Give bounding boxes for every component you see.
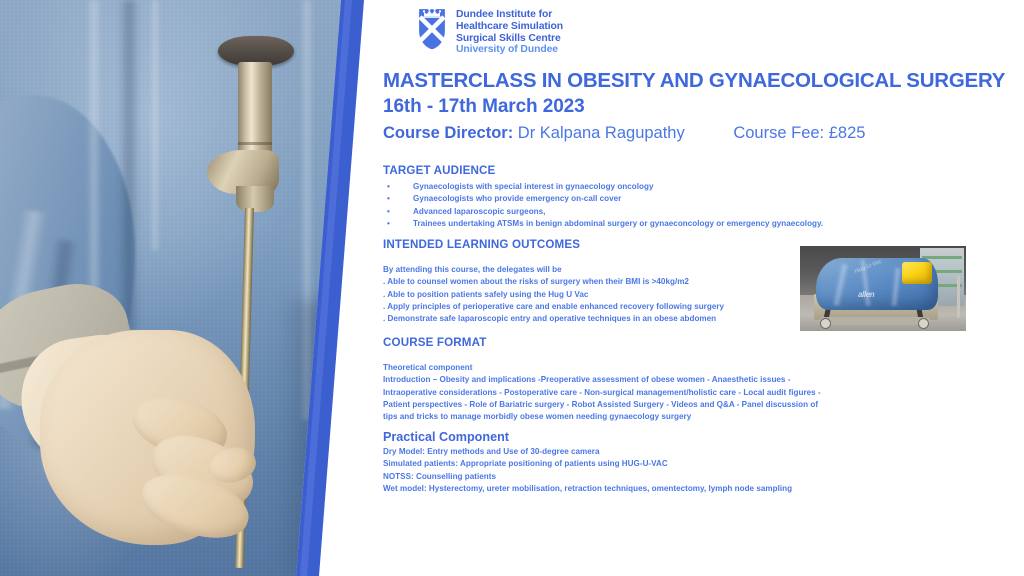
logo-university-line: University of Dundee <box>456 44 563 56</box>
practical-component-heading: Practical Component <box>383 430 883 444</box>
positioner-brand: allen <box>858 290 874 299</box>
target-audience-list: • Gynaecologists with special interest i… <box>383 181 1003 230</box>
headline-block: MASTERCLASS IN OBESITY AND GYNAECOLOGICA… <box>383 68 1023 144</box>
list-item: • Advanced laparoscopic surgeons, <box>383 206 1003 218</box>
equipment-cable <box>957 276 960 318</box>
logo-line-3: Surgical Skills Centre <box>456 33 563 45</box>
course-format-line: Patient perspectives - Role of Bariatric… <box>383 399 883 411</box>
rack-shelf <box>922 256 962 259</box>
bullet-icon: • <box>383 218 413 230</box>
list-item: • Gynaecologists with special interest i… <box>383 181 1003 193</box>
list-item-label: Gynaecologists with special interest in … <box>413 181 653 193</box>
dundee-logo-text: Dundee Institute for Healthcare Simulati… <box>456 7 563 56</box>
course-format-line: Intraoperative considerations - Postoper… <box>383 387 883 399</box>
bullet-icon: • <box>383 193 413 205</box>
trocar-collar <box>236 186 274 212</box>
trocar-barrel <box>238 62 272 162</box>
list-item: • Gynaecologists who provide emergency o… <box>383 193 1003 205</box>
course-fee: Course Fee: £825 <box>733 123 865 144</box>
practical-line: Simulated patients: Appropriate position… <box>383 458 883 470</box>
list-item-label: Gynaecologists who provide emergency on-… <box>413 193 621 205</box>
list-item-label: Trainees undertaking ATSMs in benign abd… <box>413 218 823 230</box>
course-format-body: Theoretical component Introduction – Obe… <box>383 362 883 423</box>
logo-line-1: Dundee Institute for <box>456 9 563 21</box>
table-base <box>820 317 930 325</box>
practical-line: Wet model: Hysterectomy, ureter mobilisa… <box>383 483 883 495</box>
dundee-shield-crown-saltire-icon <box>417 7 447 51</box>
practical-line: NOTSS: Counselling patients <box>383 471 883 483</box>
course-director-label: Course Director: <box>383 124 513 142</box>
course-director-name: Dr Kalpana Ragupathy <box>518 124 685 142</box>
drape-fold <box>150 0 160 250</box>
practical-line: Dry Model: Entry methods and Use of 30-d… <box>383 446 883 458</box>
section-practical-component: Practical Component Dry Model: Entry met… <box>383 430 883 495</box>
bullet-icon: • <box>383 206 413 218</box>
poster-content: Dundee Institute for Healthcare Simulati… <box>380 0 1024 576</box>
practical-component-body: Dry Model: Entry methods and Use of 30-d… <box>383 446 883 495</box>
course-format-heading: COURSE FORMAT <box>383 336 883 349</box>
poster-canvas: Dundee Institute for Healthcare Simulati… <box>0 0 1024 576</box>
course-dates: 16th - 17th March 2023 <box>383 95 1023 120</box>
section-target-audience: TARGET AUDIENCE • Gynaecologists with sp… <box>383 164 1003 230</box>
list-item-label: Advanced laparoscopic surgeons, <box>413 206 545 218</box>
drape-shadow <box>118 0 140 330</box>
table-castor <box>918 318 929 329</box>
course-format-subheading: Theoretical component <box>383 362 883 374</box>
table-castor <box>820 318 831 329</box>
dundee-logo: Dundee Institute for Healthcare Simulati… <box>417 7 563 56</box>
bullet-icon: • <box>383 181 413 193</box>
list-item: • Trainees undertaking ATSMs in benign a… <box>383 218 1003 230</box>
course-director-row: Course Director: Dr Kalpana Ragupathy Co… <box>383 123 1023 144</box>
target-audience-heading: TARGET AUDIENCE <box>383 164 1003 177</box>
hug-u-vac-positioner-on-operating-table-photo: Hug-U-Vac allen <box>800 246 966 331</box>
course-format-line: tips and tricks to manage morbidly obese… <box>383 411 883 423</box>
yellow-equipment-box <box>902 262 932 284</box>
section-course-format: COURSE FORMAT Theoretical component Intr… <box>383 336 883 423</box>
course-format-line: Introduction – Obesity and implications … <box>383 374 883 386</box>
trocar-ring <box>238 142 272 145</box>
drape-fold <box>86 0 102 300</box>
page-title: MASTERCLASS IN OBESITY AND GYNAECOLOGICA… <box>383 68 1023 93</box>
logo-line-2: Healthcare Simulation <box>456 21 563 33</box>
